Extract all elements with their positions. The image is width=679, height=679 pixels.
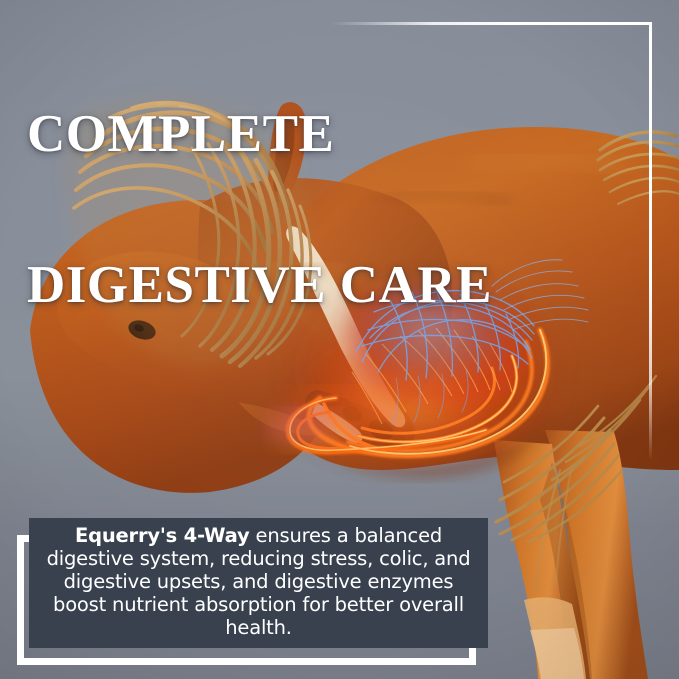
headline-line-1: COMPLETE	[27, 109, 492, 159]
page-title: COMPLETE DIGESTIVE CARE	[27, 8, 492, 411]
caption-block: Equerry's 4-Way ensures a balanced diges…	[17, 515, 489, 665]
headline-line-2: DIGESTIVE CARE	[27, 260, 492, 310]
caption-panel: Equerry's 4-Way ensures a balanced diges…	[29, 518, 488, 648]
caption-text: Equerry's 4-Way ensures a balanced diges…	[43, 524, 474, 639]
poster-canvas: COMPLETE DIGESTIVE CARE Equerry's 4-Way …	[0, 0, 679, 679]
caption-brand: Equerry's 4-Way	[75, 524, 250, 547]
